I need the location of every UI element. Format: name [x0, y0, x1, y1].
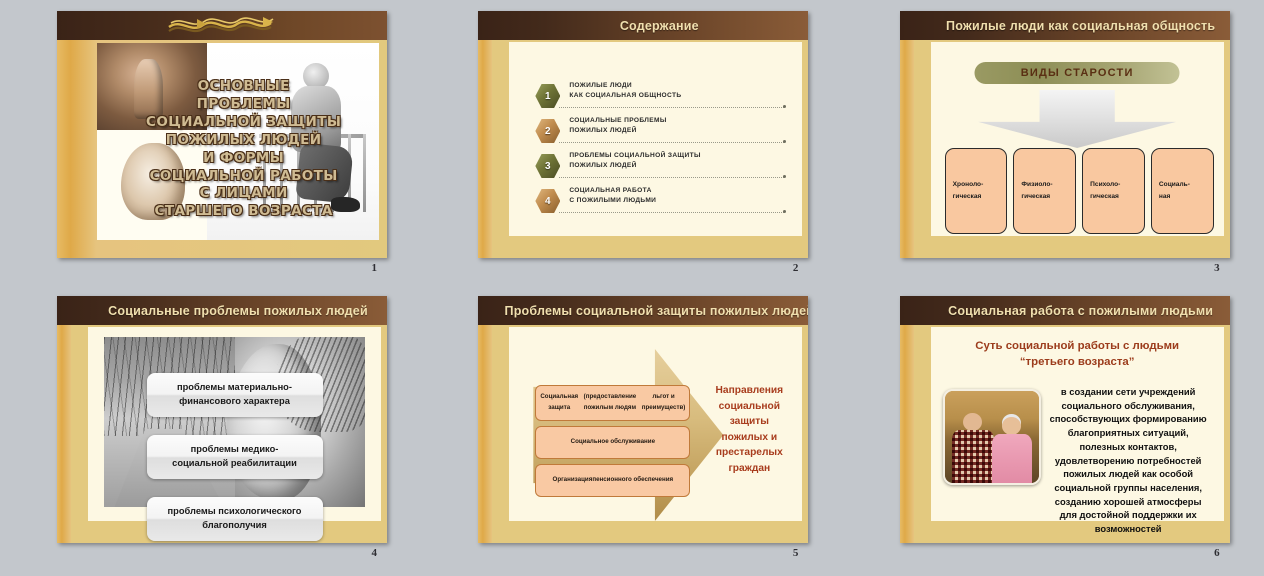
hex-bullet-4: 4	[535, 189, 560, 213]
slide-2-header-title: Содержание	[518, 11, 800, 40]
slide-thumbnail-grid: ОСНОВНЫЕ ПРОБЛЕМЫ СОЦИАЛЬНОЙ ЗАЩИТЫ ПОЖИ…	[0, 0, 1264, 576]
slide-6-body-text: в создании сети учрежденийсоциального об…	[1039, 385, 1218, 536]
slide-number-4: 4	[57, 547, 387, 559]
problem-box-medical[interactable]: проблемы медико-социальной реабилитации	[147, 435, 323, 479]
slide-cell-6: Социальная работа с пожилыми людьми Суть…	[843, 288, 1264, 576]
slide-2-paper: 1 ПОЖИЛЫЕ ЛЮДИ КАК СОЦИАЛЬНАЯ ОБЩНОСТЬ 2…	[509, 42, 802, 236]
slide-6-body: Суть социальной работы с людьми“третьего…	[914, 325, 1230, 543]
card-chronological[interactable]: Хроноло-гическая	[945, 148, 1008, 234]
list-item[interactable]: 2 СОЦИАЛЬНЫЕ ПРОБЛЕМЫ ПОЖИЛЫХ ЛЮДЕЙ	[535, 117, 788, 145]
slide-number-2: 2	[478, 262, 808, 274]
slide-1-title: ОСНОВНЫЕ ПРОБЛЕМЫ СОЦИАЛЬНОЙ ЗАЩИТЫ ПОЖИ…	[114, 78, 373, 221]
photo-woman-figure	[992, 417, 1033, 483]
slide-number-3: 3	[900, 262, 1230, 274]
list-item[interactable]: 3 ПРОБЛЕМЫ СОЦИАЛЬНОЙ ЗАЩИТЫ ПОЖИЛЫХ ЛЮД…	[535, 152, 788, 180]
slide-4-gold-strip	[57, 325, 71, 543]
slide-4-photos	[104, 337, 365, 507]
photo-man-figure	[952, 413, 993, 483]
toc-item-label-1: ПОЖИЛЫЕ ЛЮДИ КАК СОЦИАЛЬНАЯ ОБЩНОСТЬ	[569, 81, 788, 101]
leader-line	[559, 211, 784, 213]
slide-number-1: 1	[57, 262, 387, 274]
slide-2[interactable]: Содержание 1 ПОЖИЛЫЕ ЛЮДИ КАК СОЦИАЛЬНАЯ…	[478, 11, 808, 258]
slide-6-header-title: Социальная работа с пожилыми людьми	[940, 296, 1222, 325]
protection-box-2[interactable]: Социальное обслуживание	[535, 426, 690, 459]
old-age-type-cards: Хроноло-гическая Физиоло-гическая Психол…	[945, 148, 1214, 234]
problem-box-material[interactable]: проблемы материально-финансового характе…	[147, 373, 323, 417]
toc-item-label-4: СОЦИАЛЬНАЯ РАБОТА С ПОЖИЛЫМИ ЛЮДЬМИ	[569, 186, 788, 206]
slide-6-subtitle: Суть социальной работы с людьми“третьего…	[941, 339, 1214, 370]
slide-3-header-title: Пожилые люди как социальная общность	[940, 11, 1222, 40]
slide-4-paper: проблемы материально-финансового характе…	[88, 327, 381, 521]
slide-5-body: Социальная защита(предоставление пожилым…	[492, 325, 808, 543]
slide-4[interactable]: Социальные проблемы пожилых людей пробле…	[57, 296, 387, 543]
elderly-woman-face-sketch	[235, 337, 366, 507]
slide-5-header-title: Проблемы социальной защиты пожилых людей	[518, 296, 800, 325]
slide-5[interactable]: Проблемы социальной защиты пожилых людей…	[478, 296, 808, 543]
leader-line	[559, 176, 784, 178]
slide-1-canvas: ОСНОВНЫЕ ПРОБЛЕМЫ СОЦИАЛЬНОЙ ЗАЩИТЫ ПОЖИ…	[97, 43, 379, 240]
slide-6-gold-strip	[900, 325, 914, 543]
slide-5-gold-strip	[478, 325, 492, 543]
card-social[interactable]: Социаль-ная	[1151, 148, 1214, 234]
slide-4-header-title: Социальные проблемы пожилых людей	[97, 296, 379, 325]
slide-cell-3: Пожилые люди как социальная общность ВИД…	[843, 0, 1264, 288]
hex-bullet-2: 2	[535, 119, 560, 143]
slide-6-paper: Суть социальной работы с людьми“третьего…	[931, 327, 1224, 521]
slide-6-header-bar: Социальная работа с пожилыми людьми	[900, 296, 1230, 325]
slide-cell-2: Содержание 1 ПОЖИЛЫЕ ЛЮДИ КАК СОЦИАЛЬНАЯ…	[421, 0, 842, 288]
slide-2-header-bar: Содержание	[478, 11, 808, 40]
slide-4-body: проблемы материально-финансового характе…	[71, 325, 387, 543]
slide-3-gold-strip	[900, 40, 914, 258]
slide-3-body: ВИДЫ СТАРОСТИ Хроноло-гическая Физиоло-г…	[914, 40, 1230, 258]
slide-cell-1: ОСНОВНЫЕ ПРОБЛЕМЫ СОЦИАЛЬНОЙ ЗАЩИТЫ ПОЖИ…	[0, 0, 421, 288]
ribbon-decoration-icon	[167, 15, 277, 37]
protection-box-3[interactable]: Организацияпенсионного обеспечения	[535, 464, 690, 497]
leader-line	[559, 141, 784, 143]
slide-3[interactable]: Пожилые люди как социальная общность ВИД…	[900, 11, 1230, 258]
slide-1-body: ОСНОВНЫЕ ПРОБЛЕМЫ СОЦИАЛЬНОЙ ЗАЩИТЫ ПОЖИ…	[57, 40, 387, 258]
slide-cell-5: Проблемы социальной защиты пожилых людей…	[421, 288, 842, 576]
toc-item-label-2: СОЦИАЛЬНЫЕ ПРОБЛЕМЫ ПОЖИЛЫХ ЛЮДЕЙ	[569, 116, 788, 136]
slide-1-header-bar	[57, 11, 387, 40]
slide-1[interactable]: ОСНОВНЫЕ ПРОБЛЕМЫ СОЦИАЛЬНОЙ ЗАЩИТЫ ПОЖИ…	[57, 11, 387, 258]
slide-3-header-bar: Пожилые люди как социальная общность	[900, 11, 1230, 40]
slide-4-header-bar: Социальные проблемы пожилых людей	[57, 296, 387, 325]
slide-5-header-bar: Проблемы социальной защиты пожилых людей	[478, 296, 808, 325]
slide-3-paper: ВИДЫ СТАРОСТИ Хроноло-гическая Физиоло-г…	[931, 42, 1224, 236]
protection-box-1[interactable]: Социальная защита(предоставление пожилым…	[535, 385, 690, 421]
leader-line	[559, 106, 784, 108]
winter-road-photo	[104, 337, 235, 507]
hex-bullet-1: 1	[535, 84, 560, 108]
slide-2-body: 1 ПОЖИЛЫЕ ЛЮДИ КАК СОЦИАЛЬНАЯ ОБЩНОСТЬ 2…	[492, 40, 808, 258]
list-item[interactable]: 4 СОЦИАЛЬНАЯ РАБОТА С ПОЖИЛЫМИ ЛЮДЬМИ	[535, 187, 788, 215]
elderly-couple-photo	[943, 389, 1041, 485]
problem-box-psychological[interactable]: проблемы психологическогоблагополучия	[147, 497, 323, 541]
hex-bullet-3: 3	[535, 154, 560, 178]
card-psychological[interactable]: Психоло-гическая	[1082, 148, 1145, 234]
slide-6[interactable]: Социальная работа с пожилыми людьми Суть…	[900, 296, 1230, 543]
slide-number-6: 6	[900, 547, 1230, 559]
slide-cell-4: Социальные проблемы пожилых людей пробле…	[0, 288, 421, 576]
card-physiological[interactable]: Физиоло-гическая	[1013, 148, 1076, 234]
table-of-contents: 1 ПОЖИЛЫЕ ЛЮДИ КАК СОЦИАЛЬНАЯ ОБЩНОСТЬ 2…	[535, 82, 788, 222]
toc-item-label-3: ПРОБЛЕМЫ СОЦИАЛЬНОЙ ЗАЩИТЫ ПОЖИЛЫХ ЛЮДЕЙ	[569, 151, 788, 171]
slide-2-gold-strip	[478, 40, 492, 258]
slide-5-paper: Социальная защита(предоставление пожилым…	[509, 327, 802, 521]
down-arrow-shape	[978, 90, 1176, 148]
slide-number-5: 5	[478, 547, 808, 559]
arrow-label-text: Направлениясоциальнойзащитыпожилых ипрес…	[704, 383, 794, 476]
list-item[interactable]: 1 ПОЖИЛЫЕ ЛЮДИ КАК СОЦИАЛЬНАЯ ОБЩНОСТЬ	[535, 82, 788, 110]
types-of-old-age-banner: ВИДЫ СТАРОСТИ	[975, 62, 1180, 84]
